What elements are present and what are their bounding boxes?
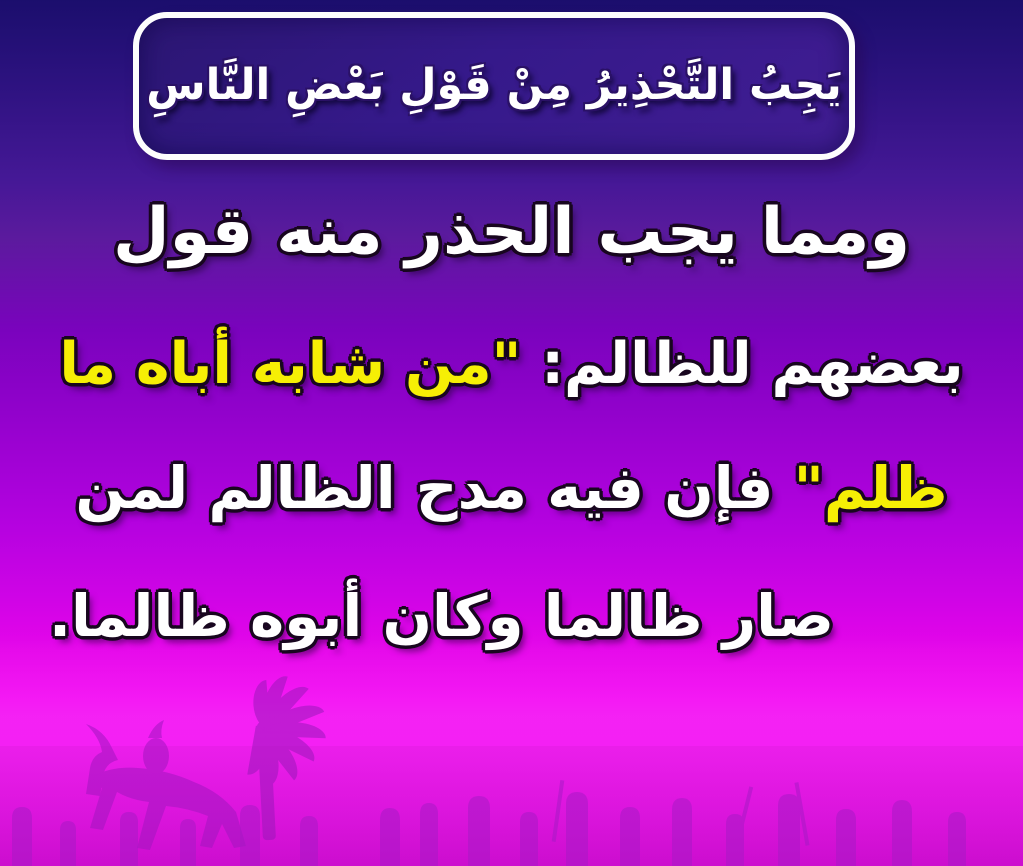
poster-canvas: يَجِبُ التَّحْذِيرُ مِنْ قَوْلِ بَعْضِ ا… [0,0,1023,866]
text-line-4: صار ظالما وكان أبوه ظالما. [14,587,1009,645]
palm-frond [258,698,324,736]
page-title: يَجِبُ التَّحْذِيرُ مِنْ قَوْلِ بَعْضِ ا… [146,59,841,113]
palm-frond [255,725,284,786]
text-line-1: ومما يجب الحذر منه قول [4,200,1019,264]
palm-frond [255,672,287,733]
quote-segment: "من شابه أباه ما [59,331,521,397]
palm-frond [251,680,270,731]
horizon-haze [0,636,1023,866]
camel-rider-icon [8,712,338,862]
palm-trunk [257,722,276,841]
text-line-3: ظلم" فإن فيه مدح الظالم لمن [14,459,1009,517]
text-segment: فإن فيه مدح الظالم لمن [75,454,773,522]
palm-frond [256,679,309,735]
palm-frond [258,721,320,762]
palm-frond [261,721,327,738]
title-plaque: يَجِبُ التَّحْذِيرُ مِنْ قَوْلِ بَعْضِ ا… [133,12,855,160]
crowd-silhouette-icon [0,776,1023,866]
body-text-block: ومما يجب الحذر منه قول بعضهم للظالم: "من… [0,200,1023,645]
text-segment: بعضهم للظالم: [541,331,963,397]
text-segment: ومما يجب الحذر منه قول [113,195,910,269]
text-line-2: بعضهم للظالم: "من شابه أباه ما [14,336,1009,393]
palm-frond [247,726,270,777]
quote-segment: ظلم" [794,454,948,522]
palm-frond [256,722,306,780]
dune-band [0,746,1023,866]
palm-tree-icon [205,665,335,840]
desert-scene [0,636,1023,866]
text-segment: صار ظالما وكان أبوه ظالما. [49,582,834,650]
